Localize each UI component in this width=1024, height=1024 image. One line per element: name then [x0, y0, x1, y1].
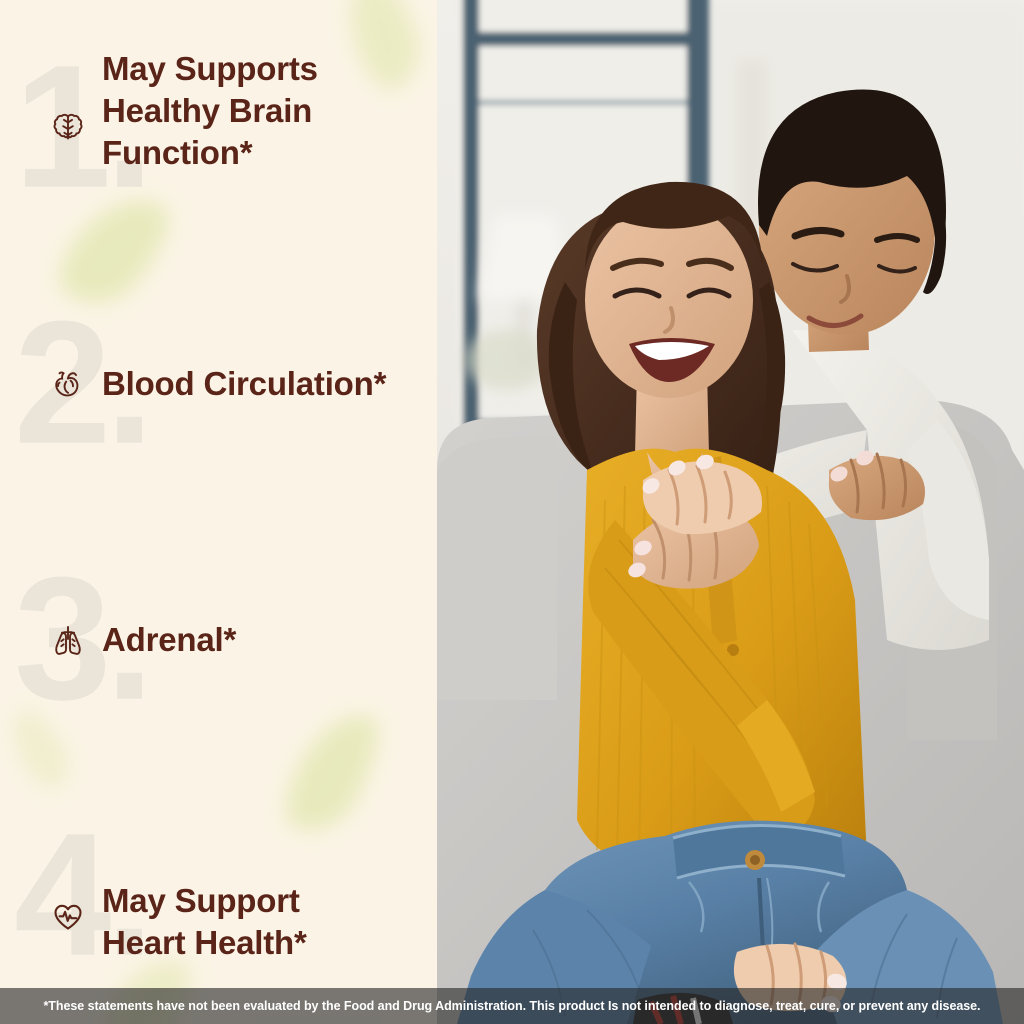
lifestyle-photo: [437, 0, 1024, 1024]
benefit-item-3: 3. Adrenal*: [0, 512, 437, 768]
benefits-panel: 1. May Supports Healthy Brain Function* …: [0, 0, 437, 1024]
benefit-text-1: May Supports Healthy Brain Function*: [102, 48, 429, 175]
anatomical-heart-icon: [48, 364, 88, 404]
lungs-icon: [48, 620, 88, 660]
disclaimer-bar: *These statements have not been evaluate…: [0, 988, 1024, 1024]
brain-icon: [48, 108, 88, 148]
benefit-text-4: May Support Heart Health*: [102, 880, 429, 964]
benefit-item-4: 4. May Support Heart Health*: [0, 768, 437, 1024]
benefit-item-1: 1. May Supports Healthy Brain Function*: [0, 0, 437, 256]
disclaimer-text: *These statements have not been evaluate…: [43, 999, 980, 1013]
benefit-item-2: 2. Blood Circulation*: [0, 256, 437, 512]
product-benefits-graphic: 1. May Supports Healthy Brain Function* …: [0, 0, 1024, 1024]
benefit-text-2: Blood Circulation*: [102, 363, 429, 405]
benefit-text-3: Adrenal*: [102, 619, 429, 661]
heart-pulse-icon: [48, 896, 88, 936]
